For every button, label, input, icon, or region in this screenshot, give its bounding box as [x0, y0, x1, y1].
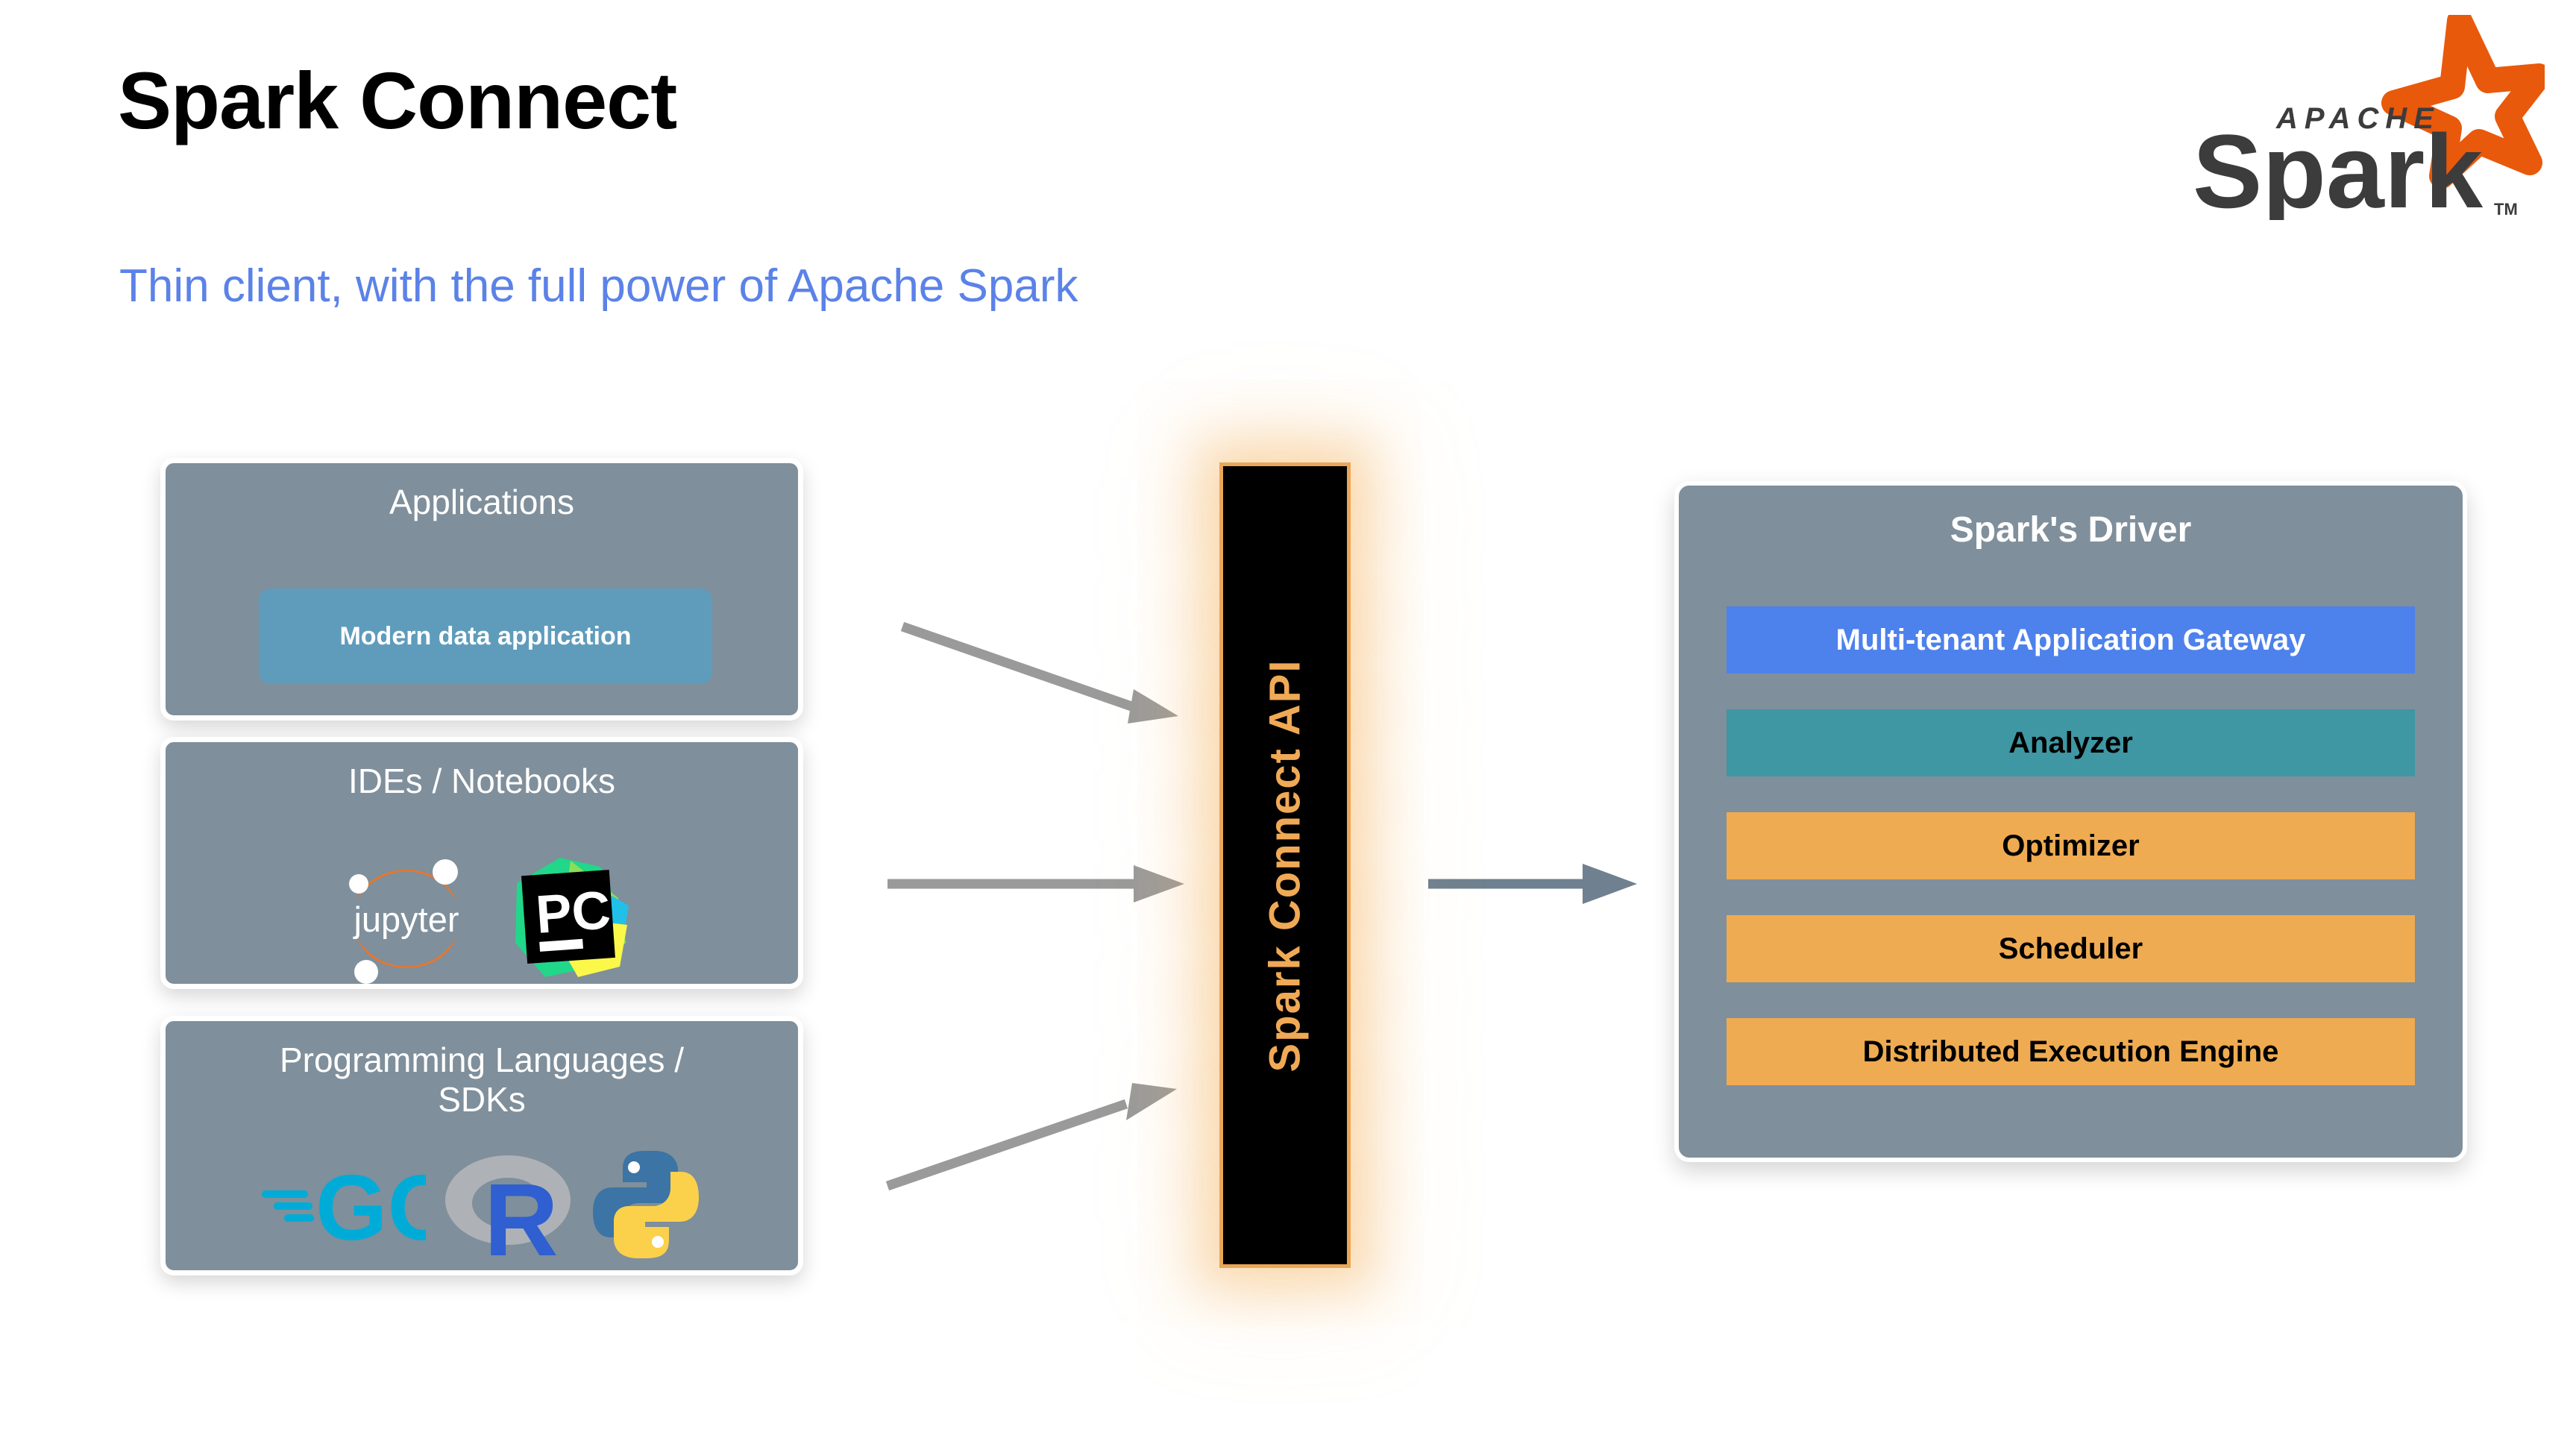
driver-row-scheduler[interactable]: Scheduler	[1727, 915, 2415, 982]
arrow-api-to-driver	[1424, 850, 1678, 917]
apache-spark-logo: APACHE Spark TM	[2157, 15, 2545, 220]
driver-row-multi-tenant-application-gateway[interactable]: Multi-tenant Application Gateway	[1727, 606, 2415, 674]
logo-spark-text: Spark	[2193, 113, 2483, 220]
client-box-title: IDEs / Notebooks	[166, 762, 798, 801]
driver-row-label: Optimizer	[2002, 829, 2139, 863]
client-box-programming-languages[interactable]: Programming Languages / SDKs GO R	[160, 1016, 803, 1275]
driver-row-label: Analyzer	[2008, 726, 2133, 760]
r-logo: R	[442, 1145, 574, 1268]
r-logo-text: R	[484, 1163, 559, 1264]
client-box-ides-notebooks[interactable]: IDEs / Notebooks jupyter PC	[160, 737, 803, 989]
ide-logo-row: jupyter PC	[166, 851, 798, 988]
spark-connect-api-label: Spark Connect API	[1260, 659, 1310, 1072]
client-box-title: Applications	[166, 483, 798, 522]
jupyter-logo-text: jupyter	[352, 900, 459, 939]
client-box-applications[interactable]: Applications Modern data application	[160, 458, 803, 721]
spark-driver-panel[interactable]: Spark's Driver Multi-tenant Application …	[1674, 481, 2467, 1162]
arrow-ides-to-api	[880, 850, 1208, 917]
go-logo: GO	[262, 1156, 426, 1257]
client-box-title: Programming Languages / SDKs	[166, 1040, 798, 1120]
go-logo-text: GO	[315, 1157, 426, 1253]
arrow-applications-to-api	[895, 612, 1208, 731]
pycharm-logo: PC	[506, 853, 632, 985]
logo-trademark-text: TM	[2494, 200, 2518, 219]
pycharm-logo-text: PC	[534, 880, 612, 945]
spark-driver-row-list: Multi-tenant Application Gateway Analyze…	[1727, 606, 2415, 1121]
driver-row-analyzer[interactable]: Analyzer	[1727, 709, 2415, 776]
driver-row-distributed-execution-engine[interactable]: Distributed Execution Engine	[1727, 1018, 2415, 1085]
spark-connect-api-bar[interactable]: Spark Connect API	[1219, 462, 1351, 1268]
driver-row-label: Scheduler	[1999, 932, 2143, 966]
page-subtitle: Thin client, with the full power of Apac…	[119, 260, 1078, 313]
modern-data-application-pill[interactable]: Modern data application	[259, 588, 712, 684]
driver-row-optimizer[interactable]: Optimizer	[1727, 812, 2415, 879]
arrow-languages-to-api	[880, 1074, 1208, 1201]
language-logo-row: GO R	[166, 1145, 798, 1268]
modern-data-application-label: Modern data application	[339, 622, 631, 651]
driver-row-label: Multi-tenant Application Gateway	[1836, 624, 2306, 657]
jupyter-logo: jupyter	[332, 851, 481, 988]
client-box-title-line1: Programming Languages /	[280, 1040, 684, 1079]
driver-row-label: Distributed Execution Engine	[1863, 1035, 2279, 1069]
python-logo	[590, 1148, 702, 1265]
page-title: Spark Connect	[118, 58, 676, 142]
client-box-title-line2: SDKs	[438, 1080, 526, 1119]
spark-driver-title: Spark's Driver	[1679, 509, 2463, 550]
